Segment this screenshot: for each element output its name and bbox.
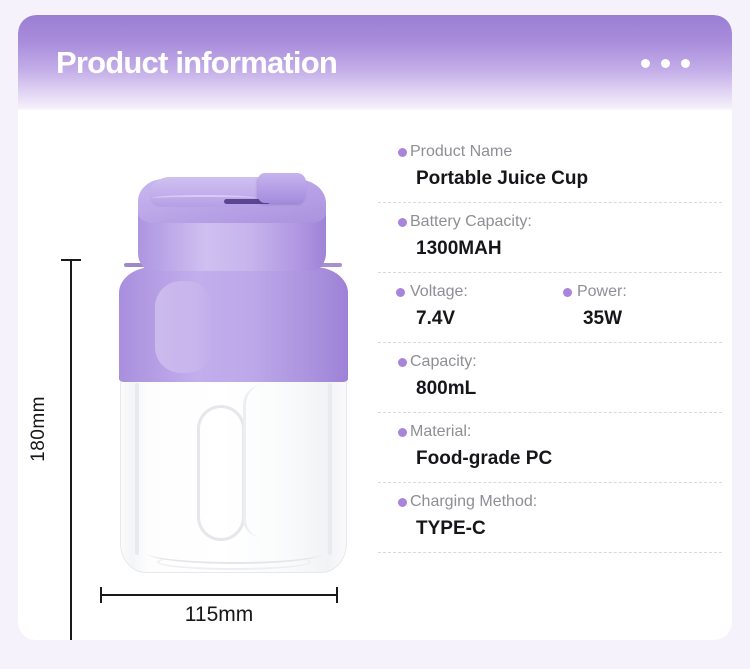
spec-label: Capacity: xyxy=(396,350,722,374)
bullet-dot-icon xyxy=(396,288,405,297)
width-dimension-line xyxy=(100,594,338,596)
spec-col-power: Power: 35W xyxy=(563,280,722,333)
spec-label: Charging Method: xyxy=(396,490,722,514)
spec-value: Portable Juice Cup xyxy=(396,164,722,193)
bottle-lid-latch xyxy=(258,173,306,203)
spec-value: TYPE-C xyxy=(396,514,722,543)
bottle-inner-grip xyxy=(197,405,245,541)
spec-value: 800mL xyxy=(396,374,722,403)
body-highlight-left xyxy=(135,383,139,555)
spec-label: Material: xyxy=(396,420,722,444)
product-image xyxy=(106,159,360,583)
spec-label: Product Name xyxy=(396,140,722,164)
body-gloss-highlight xyxy=(155,281,213,373)
bottle-clear-body xyxy=(120,377,347,573)
dot-icon xyxy=(641,59,650,68)
card-header: Product information xyxy=(18,15,732,111)
product-info-card: Product information xyxy=(18,15,732,640)
bullet-dot-icon xyxy=(398,218,407,227)
width-dimension-cap-right xyxy=(336,587,338,603)
spec-row-voltage-power: Voltage: 7.4V Power: 35W xyxy=(378,273,722,343)
height-dimension-line xyxy=(70,259,72,640)
bottle-base-ellipse xyxy=(157,554,311,570)
bottle-inner-grip-secondary xyxy=(243,385,277,537)
bullet-dot-icon xyxy=(398,428,407,437)
spec-value: 35W xyxy=(563,304,722,333)
bottle-purple-body xyxy=(119,267,348,382)
spec-value: 1300MAH xyxy=(396,234,722,263)
bullet-dot-icon xyxy=(398,148,407,157)
spec-value: 7.4V xyxy=(396,304,563,333)
spec-label: Voltage: xyxy=(396,280,563,304)
bullet-dot-icon xyxy=(398,358,407,367)
specification-list: Product Name Portable Juice Cup Battery … xyxy=(378,111,732,640)
spec-row-charging-method: Charging Method: TYPE-C xyxy=(378,483,722,553)
spec-label: Battery Capacity: xyxy=(396,210,722,234)
more-options-button[interactable] xyxy=(641,59,690,68)
body-highlight-right xyxy=(328,383,332,555)
bullet-dot-icon xyxy=(563,288,572,297)
spec-row-capacity: Capacity: 800mL xyxy=(378,343,722,413)
spec-label: Power: xyxy=(563,280,722,304)
product-image-panel: 180mm 115mm xyxy=(18,111,374,640)
spec-row-product-name: Product Name Portable Juice Cup xyxy=(378,133,722,203)
height-dimension-label: 180mm xyxy=(28,396,50,462)
spec-row-material: Material: Food-grade PC xyxy=(378,413,722,483)
spec-col-voltage: Voltage: 7.4V xyxy=(396,280,563,333)
dot-icon xyxy=(661,59,670,68)
page-title: Product information xyxy=(56,43,337,83)
dot-icon xyxy=(681,59,690,68)
lid-spout-line xyxy=(152,195,256,201)
width-dimension-label: 115mm xyxy=(100,603,338,627)
spec-row-battery-capacity: Battery Capacity: 1300MAH xyxy=(378,203,722,273)
spec-value: Food-grade PC xyxy=(396,444,722,473)
bullet-dot-icon xyxy=(398,498,407,507)
